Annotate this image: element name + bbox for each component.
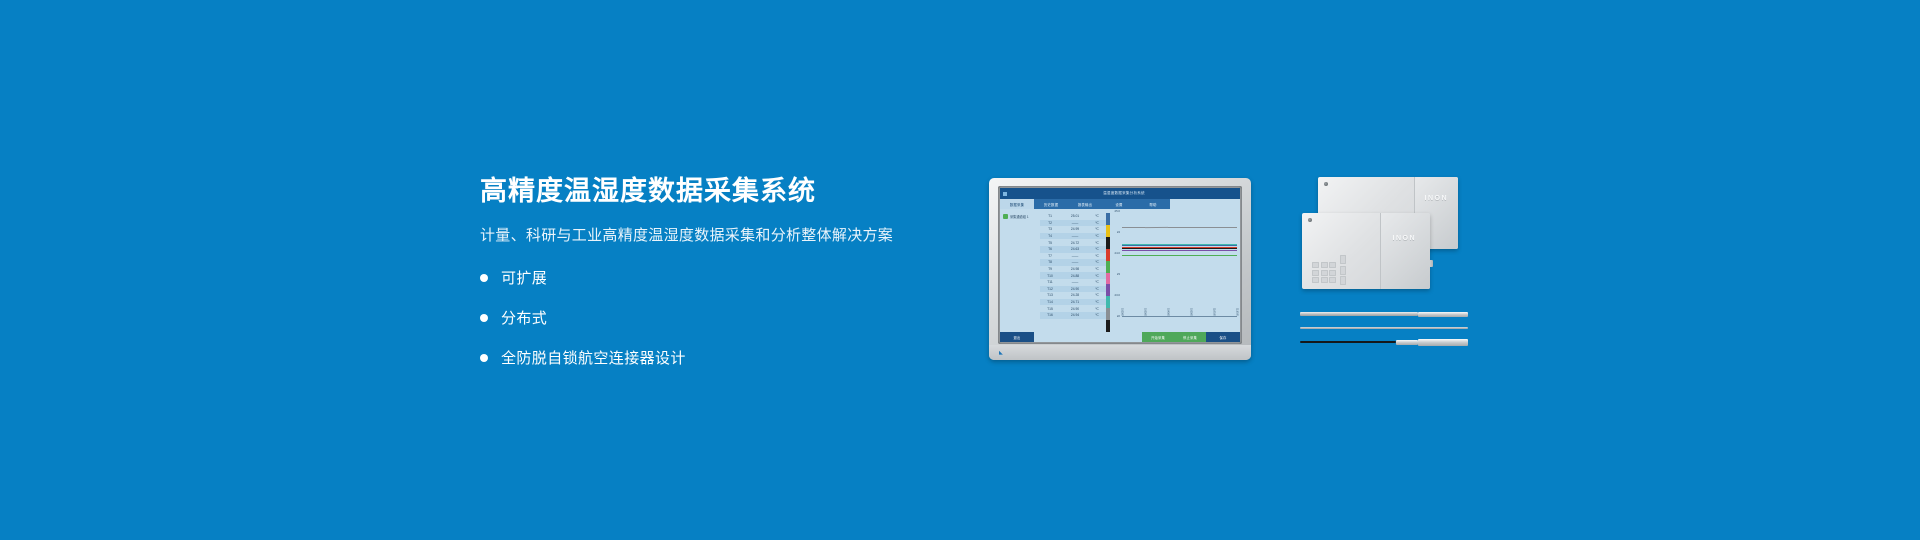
table-row: T1324.28℃ [1040,292,1106,299]
y-axis-tick: 25.0 [1115,209,1120,213]
legend-swatch [1106,225,1110,237]
page-title: 高精度温湿度数据采集系统 [480,176,960,207]
monitor-screen: 温湿度数据采集分析系统 数据采集 历史数据 报表输出 设置 帮助 [1000,188,1240,342]
table-row: T1424.71℃ [1040,299,1106,306]
cell-channel: T14 [1040,300,1060,304]
table-row: T924.98℃ [1040,266,1106,273]
cell-channel: T2 [1040,221,1060,225]
legend-swatch [1106,237,1110,249]
y-axis-tick: 24.0 [1115,251,1120,255]
series-line [1145,255,1168,256]
connector-port-icon [1340,255,1346,285]
cell-unit: ℃ [1090,287,1104,291]
cell-unit: ℃ [1090,214,1104,218]
series-line [1214,227,1237,228]
y-axis-tick: 23.0 [1115,293,1120,297]
cell-value: 24.90 [1060,307,1090,311]
cell-unit: ℃ [1090,241,1104,245]
cell-value: 24.94 [1060,313,1090,317]
legend-swatch [1106,308,1110,320]
cell-unit: ℃ [1090,280,1104,284]
series-layer [1122,213,1237,316]
table-row: T624.63℃ [1040,246,1106,253]
exit-button[interactable]: 退出 [1000,332,1034,342]
monitor-vendor-logo: ◣ [999,350,1003,356]
list-item: 全防脱自锁航空连接器设计 [480,347,960,368]
series-line [1168,255,1191,256]
table-row: T1224.90℃ [1040,286,1106,293]
series-line [1145,250,1168,251]
feature-label: 全防脱自锁航空连接器设计 [501,347,686,368]
cell-value: 24.72 [1060,241,1090,245]
channel-tree-panel: 采集通道组 1 [1000,209,1040,332]
cell-value: —— [1060,221,1090,225]
legend-swatch [1106,296,1110,308]
tab-help[interactable]: 帮助 [1136,199,1170,209]
action-bar-spacer [1034,332,1142,342]
stop-acquisition-button[interactable]: 停止采集 [1174,332,1206,342]
cell-unit: ℃ [1090,274,1104,278]
terminal-block-icon [1312,262,1336,283]
cell-value: —— [1060,234,1090,238]
series-line [1214,250,1237,251]
cell-channel: T3 [1040,227,1060,231]
acquisition-module-front: INON [1302,213,1430,289]
app-title-bar: 温湿度数据采集分析系统 [1000,188,1240,199]
panel-monitor-product: 温湿度数据采集分析系统 数据采集 历史数据 报表输出 设置 帮助 [989,178,1251,360]
legend-swatch [1106,273,1110,285]
cell-channel: T9 [1040,267,1060,271]
x-axis-tick: 11:00:00 [1213,308,1216,316]
realtime-trend-chart: 25.02424.02323.022 10:20:0010:30:0010:40… [1111,209,1240,332]
bullet-dot-icon [480,354,488,362]
monitor-inner-frame: 温湿度数据采集分析系统 数据采集 历史数据 报表输出 设置 帮助 [998,186,1242,344]
copy-block: 高精度温湿度数据采集系统 计量、科研与工业高精度温湿度数据采集和分析整体解决方案… [480,176,960,387]
cell-unit: ℃ [1090,313,1104,317]
cell-unit: ℃ [1090,221,1104,225]
screw-icon [1308,218,1312,222]
temperature-probe-stainless [1300,312,1468,316]
cell-unit: ℃ [1090,234,1104,238]
series-line [1122,250,1145,251]
monitor-foot [989,345,1251,360]
brand-logo: INON [1393,235,1417,242]
cell-value: 24.63 [1060,247,1090,251]
connector-nub-icon [1429,260,1433,267]
acquisition-modules-product: INON INON [1300,175,1475,290]
series-line [1191,250,1214,251]
cell-value: 24.98 [1060,267,1090,271]
x-axis-tick: 10:20:00 [1121,308,1124,316]
feature-label: 分布式 [501,307,547,328]
table-row: T8——℃ [1040,259,1106,266]
table-row: T2——℃ [1040,220,1106,227]
cell-channel: T16 [1040,313,1060,317]
cell-channel: T6 [1040,247,1060,251]
page-subtitle: 计量、科研与工业高精度温湿度数据采集和分析整体解决方案 [480,224,960,245]
table-row: T125.01℃ [1040,213,1106,220]
cell-channel: T15 [1040,307,1060,311]
cell-channel: T13 [1040,293,1060,297]
tree-node-channel-group[interactable]: 采集通道组 1 [1003,214,1037,219]
table-row: T1024.88℃ [1040,272,1106,279]
series-line [1122,227,1145,228]
hero-banner: 高精度温湿度数据采集系统 计量、科研与工业高精度温湿度数据采集和分析整体解决方案… [0,0,1920,540]
cell-value: 24.71 [1060,300,1090,304]
cell-channel: T5 [1040,241,1060,245]
cell-channel: T8 [1040,260,1060,264]
x-axis-tick: 10:30:00 [1144,308,1147,316]
x-axis: 10:20:0010:30:0010:40:0010:50:0011:00:00… [1122,316,1237,317]
series-line [1214,255,1237,256]
temperature-probe-connector [1300,340,1468,344]
table-row: T4——℃ [1040,233,1106,240]
workspace: 采集通道组 1 T125.01℃ T2——℃ T324.99℃ T4——℃ T5… [1000,209,1240,332]
series-line [1122,255,1145,256]
status-online-icon [1003,214,1008,219]
legend-swatch [1106,320,1110,332]
cell-value: 25.01 [1060,214,1090,218]
app-title: 温湿度数据采集分析系统 [1011,191,1237,196]
brand-logo: INON [1425,195,1449,202]
cell-unit: ℃ [1090,293,1104,297]
series-line [1191,227,1214,228]
channel-color-legend [1106,213,1110,332]
cell-unit: ℃ [1090,267,1104,271]
table-row: T11——℃ [1040,279,1106,286]
cell-value: 24.99 [1060,227,1090,231]
cell-value: —— [1060,280,1090,284]
cell-value: 24.90 [1060,287,1090,291]
list-item: 可扩展 [480,267,960,288]
action-bar: 退出 开始采集 停止采集 保存 [1000,332,1240,342]
cell-unit: ℃ [1090,227,1104,231]
y-axis-tick: 23 [1117,272,1120,276]
x-axis-tick: 11:10:00 [1236,308,1239,316]
start-acquisition-button[interactable]: 开始采集 [1142,332,1174,342]
cell-channel: T12 [1040,287,1060,291]
table-row: T1624.94℃ [1040,312,1106,319]
screw-icon [1324,182,1328,186]
legend-swatch [1106,249,1110,261]
table-row: T524.72℃ [1040,239,1106,246]
app-logo-icon [1003,192,1007,196]
series-line [1145,227,1168,228]
feature-label: 可扩展 [501,267,547,288]
temperature-probe-slim [1300,326,1468,330]
y-axis-tick: 24 [1117,230,1120,234]
cell-channel: T11 [1040,280,1060,284]
cell-value: —— [1060,260,1090,264]
tab-bar: 数据采集 历史数据 报表输出 设置 帮助 [1000,199,1240,209]
save-button[interactable]: 保存 [1206,332,1240,342]
cell-unit: ℃ [1090,254,1104,258]
series-line [1168,250,1191,251]
cell-value: —— [1060,254,1090,258]
sensor-probes-product [1300,300,1475,360]
cell-unit: ℃ [1090,247,1104,251]
bullet-dot-icon [480,314,488,322]
tab-data-acquisition[interactable]: 数据采集 [1000,199,1034,209]
x-axis-tick: 10:40:00 [1167,308,1170,316]
y-axis: 25.02424.02323.022 [1111,211,1121,316]
tab-bar-filler [1170,199,1240,209]
table-row: T1524.90℃ [1040,305,1106,312]
legend-swatch [1106,213,1110,225]
cell-unit: ℃ [1090,260,1104,264]
cell-channel: T4 [1040,234,1060,238]
legend-swatch [1106,261,1110,273]
tab-settings[interactable]: 设置 [1102,199,1136,209]
cell-channel: T1 [1040,214,1060,218]
cell-value: 24.88 [1060,274,1090,278]
feature-list: 可扩展 分布式 全防脱自锁航空连接器设计 [480,267,960,368]
table-row: T324.99℃ [1040,226,1106,233]
tree-node-label: 采集通道组 1 [1010,214,1029,219]
series-line [1191,255,1214,256]
tab-history[interactable]: 历史数据 [1034,199,1068,209]
module-end-cap [1380,213,1430,289]
list-item: 分布式 [480,307,960,328]
x-axis-tick: 10:50:00 [1190,308,1193,316]
cell-unit: ℃ [1090,300,1104,304]
monitor-bezel: 温湿度数据采集分析系统 数据采集 历史数据 报表输出 设置 帮助 [989,178,1251,360]
cell-channel: T7 [1040,254,1060,258]
series-line [1168,227,1191,228]
legend-swatch [1106,284,1110,296]
bullet-dot-icon [480,274,488,282]
tab-report[interactable]: 报表输出 [1068,199,1102,209]
cell-value: 24.28 [1060,293,1090,297]
cell-unit: ℃ [1090,307,1104,311]
measurement-table: T125.01℃ T2——℃ T324.99℃ T4——℃ T524.72℃ T… [1040,209,1106,332]
table-row: T7——℃ [1040,253,1106,260]
cell-channel: T10 [1040,274,1060,278]
